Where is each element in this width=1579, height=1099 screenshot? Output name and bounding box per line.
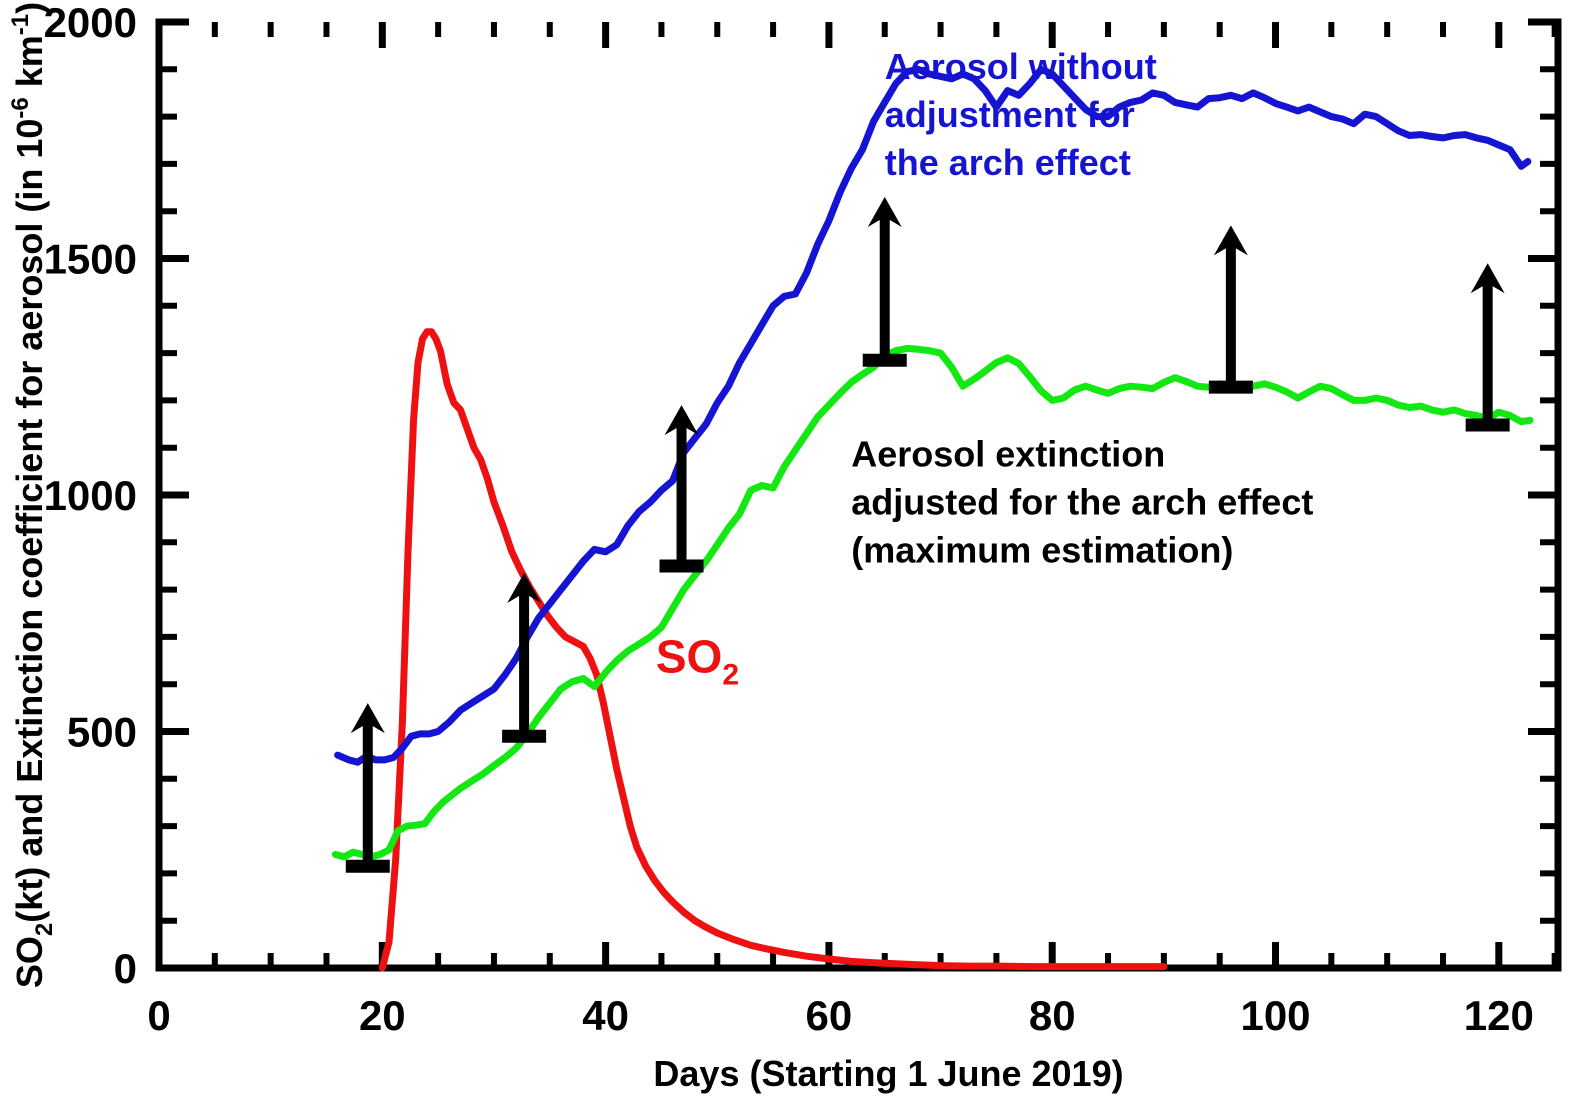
blue-series-annotation-line: Aerosol without <box>885 46 1157 87</box>
x-tick-label: 120 <box>1464 992 1534 1039</box>
series-line-aerosol-extinction-adjusted-for-the-arch-effect-maximum-estimation <box>335 348 1530 856</box>
x-tick-label: 80 <box>1029 992 1076 1039</box>
x-tick-label: 60 <box>806 992 853 1039</box>
y-tick-label: 500 <box>67 709 137 756</box>
y-tick-label: 1500 <box>44 236 137 283</box>
up-arrow-annotation <box>863 197 907 360</box>
y-tick-label: 1000 <box>44 472 137 519</box>
up-arrow-annotation <box>1209 225 1253 387</box>
x-tick-label: 0 <box>147 992 170 1039</box>
green-series-annotation-line: (maximum estimation) <box>851 530 1233 571</box>
series-line-so2 <box>382 332 1164 968</box>
green-series-annotation-line: adjusted for the arch effect <box>851 482 1313 523</box>
up-arrow-annotation <box>1466 263 1510 425</box>
up-arrow-annotation <box>346 703 390 866</box>
x-tick-label: 40 <box>582 992 629 1039</box>
x-axis-title: Days (Starting 1 June 2019) <box>653 1053 1123 1094</box>
chart-svg: 0500100015002000020406080100120 Aerosol … <box>0 0 1579 1099</box>
green-series-annotation-line: Aerosol extinction <box>851 434 1165 475</box>
chart-figure: 0500100015002000020406080100120 Aerosol … <box>0 0 1579 1099</box>
y-tick-label: 2000 <box>44 0 137 46</box>
x-tick-label: 100 <box>1240 992 1310 1039</box>
blue-series-annotation-line: adjustment for <box>885 94 1135 135</box>
so2-series-annotation: SO2 <box>656 630 739 691</box>
x-tick-label: 20 <box>359 992 406 1039</box>
y-tick-label: 0 <box>114 945 137 992</box>
blue-series-annotation-line: the arch effect <box>885 142 1131 183</box>
